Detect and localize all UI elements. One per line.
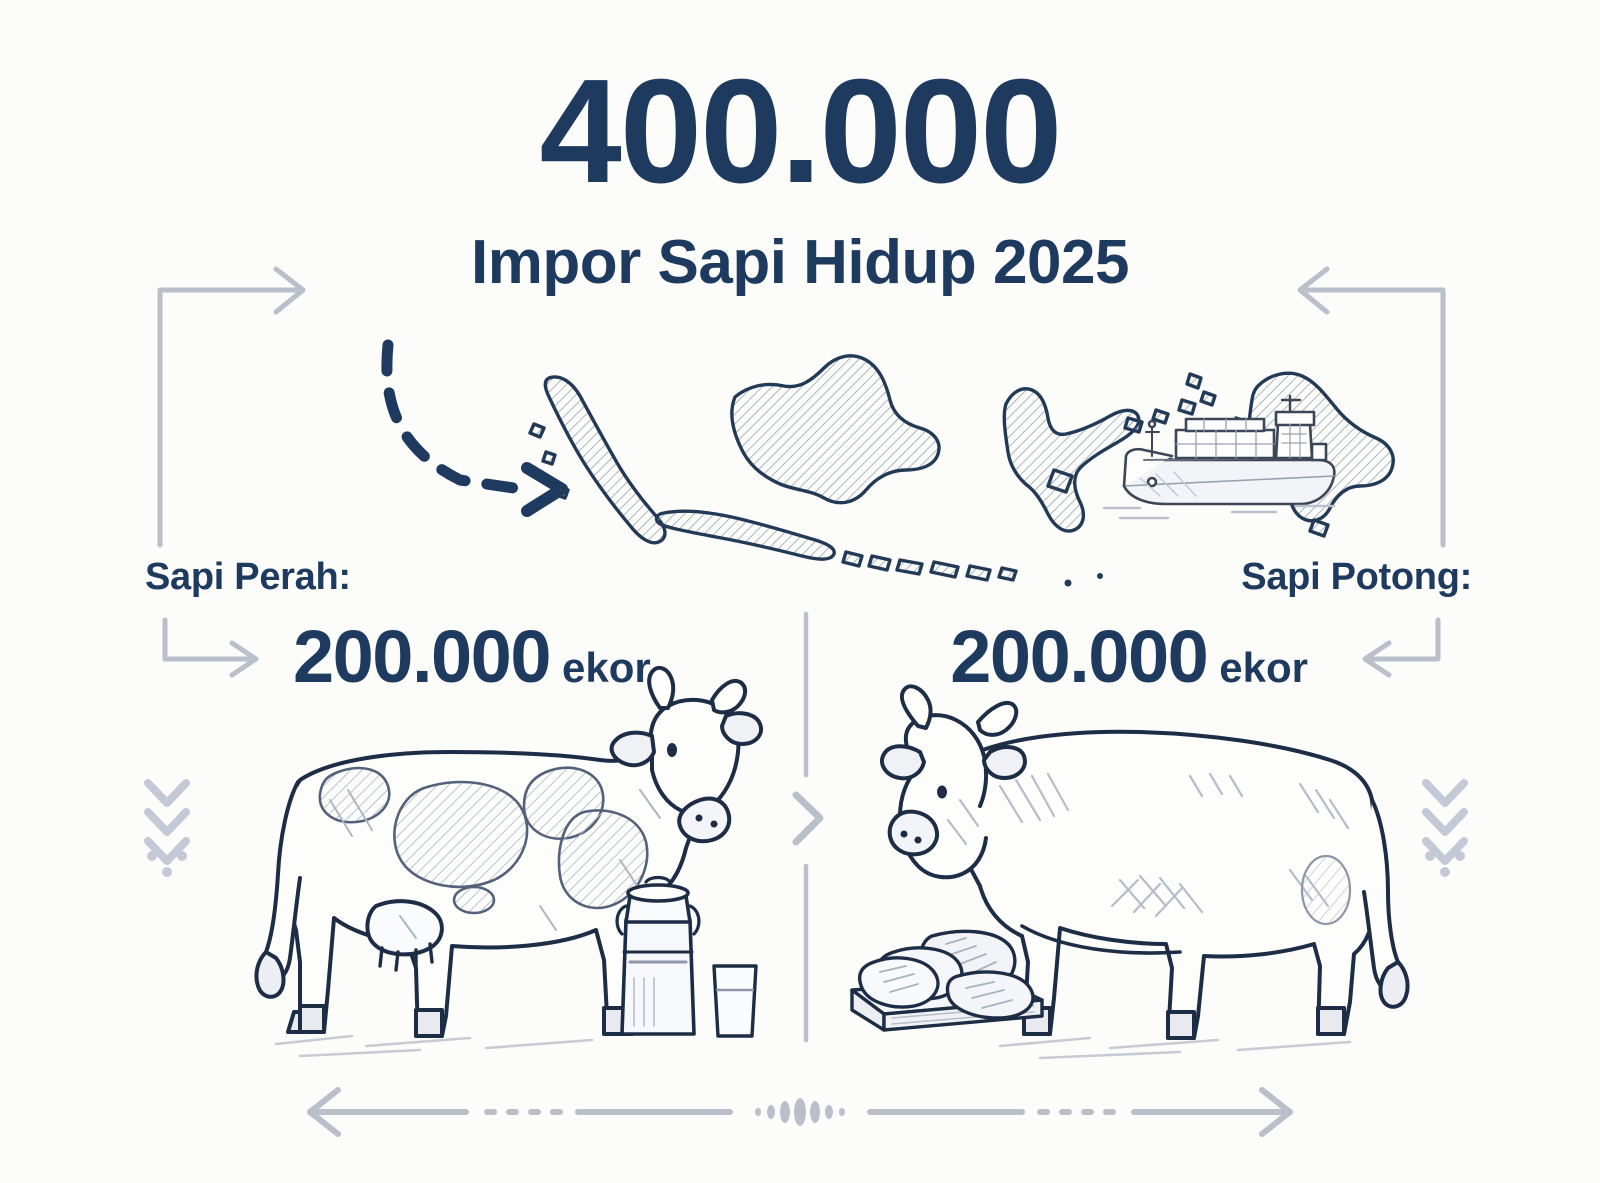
elbow-arrow-left-icon xyxy=(160,269,303,545)
right-value-row: 200.000 ekor xyxy=(950,620,1308,694)
triple-chevron-down-right-icon xyxy=(1426,783,1464,861)
left-value-row: 200.000 ekor xyxy=(293,620,651,694)
beef-bull-icon xyxy=(882,686,1408,1058)
curved-dashed-import-arrow-icon xyxy=(387,345,562,511)
cargo-container-ship-icon xyxy=(1104,396,1334,518)
double-headed-comparison-arrow-icon xyxy=(310,1090,1290,1134)
headline-subtitle: Impor Sapi Hidup 2025 xyxy=(0,232,1600,294)
right-category-label: Sapi Potong: xyxy=(1241,556,1472,599)
milk-can-icon xyxy=(617,878,699,1035)
left-value-number: 200.000 xyxy=(293,620,550,694)
elbow-arrow-right-icon xyxy=(1300,269,1443,545)
center-dots-ornament-icon xyxy=(755,1098,845,1126)
left-category-label: Sapi Perah: xyxy=(145,556,351,599)
elbow-arrow-small-right-icon xyxy=(1365,620,1438,675)
left-value-unit: ekor xyxy=(562,647,651,689)
triple-chevron-down-left-icon xyxy=(148,783,186,861)
dots-right-icon xyxy=(1425,851,1465,877)
dairy-cow-icon xyxy=(256,668,761,1056)
vertical-divider-with-chevron-icon xyxy=(796,614,820,1040)
milk-glass-icon xyxy=(714,966,756,1036)
right-value-unit: ekor xyxy=(1219,647,1308,689)
headline-total-number: 400.000 xyxy=(0,58,1600,206)
dots-left-icon xyxy=(147,851,187,877)
meat-cuts-on-board-icon xyxy=(852,931,1042,1030)
right-value-number: 200.000 xyxy=(950,620,1207,694)
elbow-arrow-small-left-icon xyxy=(165,620,256,675)
indonesia-archipelago-icon xyxy=(530,356,1393,587)
infographic-canvas: 400.000 Impor Sapi Hidup 2025 Sapi Perah… xyxy=(0,0,1600,1183)
